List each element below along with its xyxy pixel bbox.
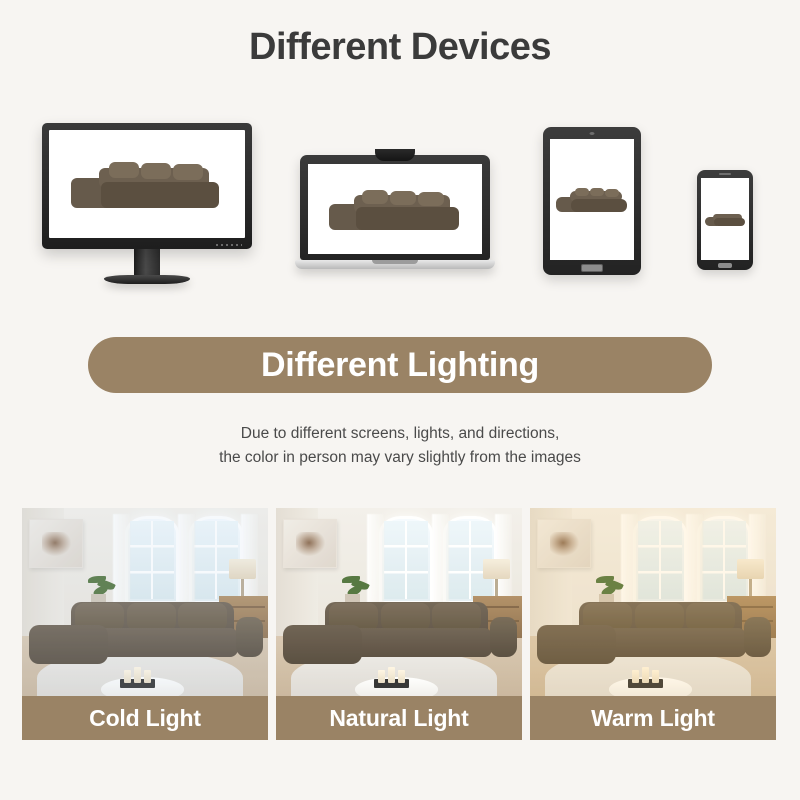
device-laptop — [300, 155, 490, 269]
devices-row — [0, 115, 800, 300]
home-button-icon[interactable] — [581, 264, 603, 272]
monitor-stand-base — [104, 275, 190, 284]
lighting-label-cold: Cold Light — [22, 696, 268, 740]
lighting-panel-cold: Cold Light — [22, 508, 268, 740]
tablet-screen — [550, 139, 634, 260]
wall-art — [29, 519, 83, 568]
sofa-image — [705, 209, 745, 229]
sofa-image — [556, 183, 628, 217]
device-desktop-monitor — [42, 123, 252, 284]
phone-bezel — [697, 170, 753, 270]
webcam-notch-icon — [375, 149, 415, 161]
room-scene — [22, 508, 268, 696]
room-photo-cold — [22, 508, 268, 696]
wall-art — [537, 519, 591, 568]
home-indicator-icon — [718, 263, 732, 268]
wall-art — [283, 519, 337, 568]
lighting-banner-label: Different Lighting — [261, 346, 539, 385]
phone-screen — [701, 178, 749, 260]
laptop-base — [295, 260, 495, 269]
sofa-image — [329, 181, 461, 237]
laptop-screen — [308, 164, 482, 254]
disclaimer-line-1: Due to different screens, lights, and di… — [0, 422, 800, 446]
monitor-bezel — [42, 123, 252, 249]
room-scene — [530, 508, 776, 696]
device-tablet — [543, 127, 641, 275]
infographic-page: Different Devices — [0, 0, 800, 800]
lighting-banner: Different Lighting — [88, 337, 712, 393]
disclaimer-text: Due to different screens, lights, and di… — [0, 422, 800, 470]
page-title: Different Devices — [0, 26, 800, 69]
sofa-image — [71, 152, 223, 216]
lighting-panel-natural: Natural Light — [276, 508, 522, 740]
lighting-panel-warm: Warm Light — [530, 508, 776, 740]
device-phone — [697, 170, 753, 270]
tablet-bezel — [543, 127, 641, 275]
room-photo-natural — [276, 508, 522, 696]
room-photo-warm — [530, 508, 776, 696]
monitor-screen — [49, 130, 245, 238]
lighting-label-natural: Natural Light — [276, 696, 522, 740]
lighting-panels: Cold Light — [22, 508, 778, 740]
room-scene — [276, 508, 522, 696]
monitor-stand-neck — [134, 249, 160, 275]
lighting-label-warm: Warm Light — [530, 696, 776, 740]
laptop-lid — [300, 155, 490, 260]
disclaimer-line-2: the color in person may vary slightly fr… — [0, 446, 800, 470]
